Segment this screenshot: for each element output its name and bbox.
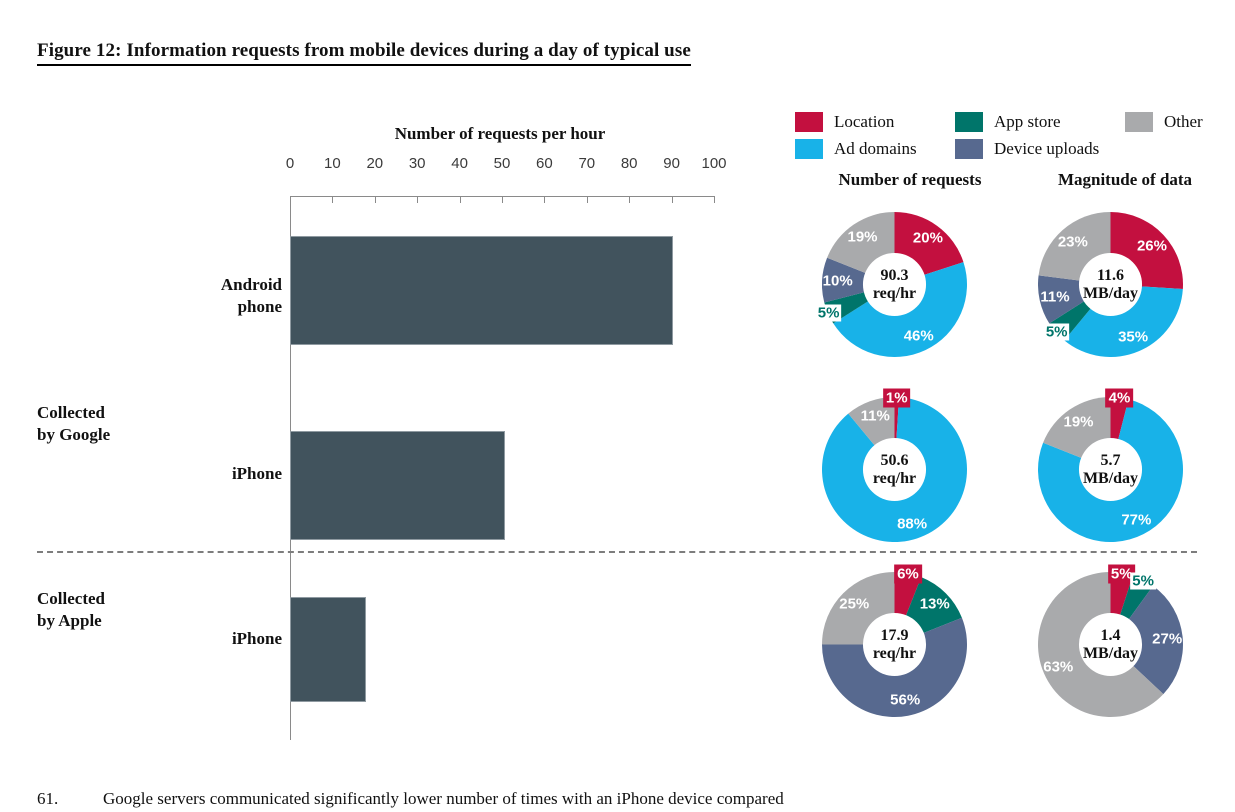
bar-row-label-1: iPhone xyxy=(120,463,282,485)
legend-label-other: Other xyxy=(1164,113,1203,130)
legend: Location App store Other Ad domains Devi… xyxy=(795,108,1230,162)
tick-label-90: 90 xyxy=(663,155,680,172)
donut-slice-label-0: 26% xyxy=(1137,237,1167,254)
bar-axis-tick-labels: 0102030405060708090100 xyxy=(0,155,760,177)
donut-chart-4: 6%13%56%25%17.9req/hr xyxy=(822,572,967,717)
legend-row-1: Location App store Other xyxy=(795,108,1230,135)
tick-label-20: 20 xyxy=(366,155,383,172)
tick-mark-80 xyxy=(629,196,630,203)
tick-label-30: 30 xyxy=(409,155,426,172)
tick-label-10: 10 xyxy=(324,155,341,172)
tick-mark-30 xyxy=(417,196,418,203)
donut-chart-2: 1%88%11%50.6req/hr xyxy=(822,397,967,542)
donut-slice-label-0: 6% xyxy=(894,564,922,583)
donut-slice-label-0: 1% xyxy=(883,388,911,407)
donut-slice-label-3: 10% xyxy=(823,272,853,289)
donut-slice-label-3: 25% xyxy=(839,596,869,613)
legend-item-other: Other xyxy=(1125,112,1230,132)
tick-mark-90 xyxy=(672,196,673,203)
bar-row-label-0: Androidphone xyxy=(120,274,282,318)
tick-label-100: 100 xyxy=(701,155,726,172)
donut-hole xyxy=(1079,613,1142,676)
legend-label-location: Location xyxy=(834,113,894,130)
footer-note: 61.Google servers communicated significa… xyxy=(37,789,1207,811)
donut-slice-label-4: 23% xyxy=(1058,233,1088,250)
section-divider xyxy=(37,551,1197,553)
legend-label-app-store: App store xyxy=(994,113,1061,130)
tick-mark-60 xyxy=(544,196,545,203)
donut-slice-label-1: 46% xyxy=(904,327,934,344)
donut-slice-label-2: 27% xyxy=(1152,631,1182,648)
donut-column-header-magnitude: Magnitude of data xyxy=(1010,170,1235,190)
donut-slice-label-2: 56% xyxy=(890,692,920,709)
tick-label-0: 0 xyxy=(286,155,294,172)
legend-swatch-ad-domains-icon xyxy=(795,139,823,159)
donut-chart-3: 4%77%19%5.7MB/day xyxy=(1038,397,1183,542)
row-label-line1: iPhone xyxy=(232,629,282,648)
donut-chart-0: 20%46%5%10%19%90.3req/hr xyxy=(822,212,967,357)
legend-item-location: Location xyxy=(795,112,955,132)
donut-slice-label-1: 77% xyxy=(1121,512,1151,529)
legend-swatch-location-icon xyxy=(795,112,823,132)
group-label-line1: Collected xyxy=(37,403,105,422)
tick-label-40: 40 xyxy=(451,155,468,172)
donut-slice-label-2: 19% xyxy=(1063,414,1093,431)
footer-text: Google servers communicated significantl… xyxy=(103,789,784,808)
donut-slice-label-0: 4% xyxy=(1106,389,1134,408)
donut-slice-label-3: 11% xyxy=(1040,288,1069,305)
donut-slice-label-2: 5% xyxy=(1044,323,1070,340)
group-label-line2: by Apple xyxy=(37,611,102,630)
donut-hole xyxy=(1079,253,1142,316)
tick-label-60: 60 xyxy=(536,155,553,172)
legend-item-ad-domains: Ad domains xyxy=(795,139,955,159)
x-axis-line xyxy=(290,196,714,197)
tick-mark-40 xyxy=(460,196,461,203)
donut-hole xyxy=(863,613,926,676)
donut-hole xyxy=(863,253,926,316)
donut-chart-5: 5%5%27%63%1.4MB/day xyxy=(1038,572,1183,717)
donut-hole xyxy=(1079,438,1142,501)
row-label-line1: Android xyxy=(221,275,282,294)
group-label-line2: by Google xyxy=(37,425,110,444)
donut-chart-1: 26%35%5%11%23%11.6MB/day xyxy=(1038,212,1183,357)
row-label-line2: phone xyxy=(238,297,282,316)
tick-mark-20 xyxy=(375,196,376,203)
legend-item-app-store: App store xyxy=(955,112,1125,132)
donut-slice-label-4: 19% xyxy=(847,229,877,246)
donut-column-header-requests: Number of requests xyxy=(795,170,1025,190)
donut-slice-label-2: 5% xyxy=(816,305,842,322)
tick-mark-70 xyxy=(587,196,588,203)
donut-slice-label-2: 11% xyxy=(861,407,890,424)
group-label-line1: Collected xyxy=(37,589,105,608)
footer-number: 61. xyxy=(37,789,103,809)
tick-mark-50 xyxy=(502,196,503,203)
row-label-line1: iPhone xyxy=(232,464,282,483)
donut-slice-label-1: 5% xyxy=(1130,572,1156,589)
donut-hole xyxy=(863,438,926,501)
tick-label-50: 50 xyxy=(494,155,511,172)
tick-mark-100 xyxy=(714,196,715,203)
legend-swatch-device-uploads-icon xyxy=(955,139,983,159)
donut-slice-label-1: 88% xyxy=(897,515,927,532)
legend-label-device-uploads: Device uploads xyxy=(994,140,1099,157)
bar-row-label-2: iPhone xyxy=(120,628,282,650)
tick-mark-10 xyxy=(332,196,333,203)
donut-slice-label-3: 63% xyxy=(1043,659,1073,676)
bar-0 xyxy=(290,236,673,345)
legend-swatch-app-store-icon xyxy=(955,112,983,132)
bar-2 xyxy=(290,597,366,702)
bar-group-label-0: Collectedby Google xyxy=(37,402,110,446)
legend-label-ad-domains: Ad domains xyxy=(834,140,917,157)
tick-label-80: 80 xyxy=(621,155,638,172)
bar-axis-title: Number of requests per hour xyxy=(300,124,700,144)
legend-item-device-uploads: Device uploads xyxy=(955,139,1125,159)
bar-group-label-1: Collectedby Apple xyxy=(37,588,105,632)
bar-1 xyxy=(290,431,505,540)
legend-swatch-other-icon xyxy=(1125,112,1153,132)
donut-slice-label-0: 20% xyxy=(913,230,943,247)
tick-label-70: 70 xyxy=(578,155,595,172)
legend-row-2: Ad domains Device uploads xyxy=(795,135,1230,162)
donut-slice-label-1: 13% xyxy=(920,596,950,613)
bar-chart-panel: Number of requests per hour 010203040506… xyxy=(0,0,760,760)
donut-slice-label-1: 35% xyxy=(1118,328,1148,345)
